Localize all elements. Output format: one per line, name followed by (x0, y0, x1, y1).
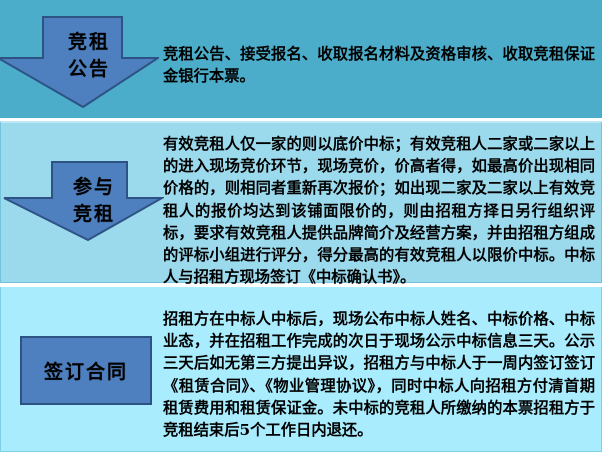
step-1-label-line-2: 公告 (30, 56, 148, 83)
step-1-shape-label: 竞租 公告 (30, 29, 148, 83)
step-3-shape-label: 签订合同 (44, 357, 128, 384)
rectangle-shape-step-3[interactable]: 签订合同 (20, 336, 152, 405)
step-3-description: 招租方在中标人中标后，现场公布中标人姓名、中标价格、中标业态，并在招租工作完成的… (163, 308, 595, 441)
process-band-step-1: 竞租 公告 竞租公告、接受报名、收取报名材料及资格审核、收取竞租保证金银行本票。 (0, 0, 602, 118)
step-2-label-line-1: 参与 (35, 174, 153, 201)
step-2-label-line-2: 竞租 (35, 201, 153, 228)
step-1-label-line-1: 竞租 (30, 29, 148, 56)
step-2-description: 有效竞租人仅一家的则以底价中标；有效竞租人二家或二家以上的进入现场竞价环节，现场… (163, 133, 595, 288)
step-2-shape-label: 参与 竞租 (35, 174, 153, 228)
rental-bidding-process-diagram: 竞租 公告 竞租公告、接受报名、收取报名材料及资格审核、收取竞租保证金银行本票。… (0, 0, 602, 452)
step-1-description: 竞租公告、接受报名、收取报名材料及资格审核、收取竞租保证金银行本票。 (163, 43, 595, 87)
